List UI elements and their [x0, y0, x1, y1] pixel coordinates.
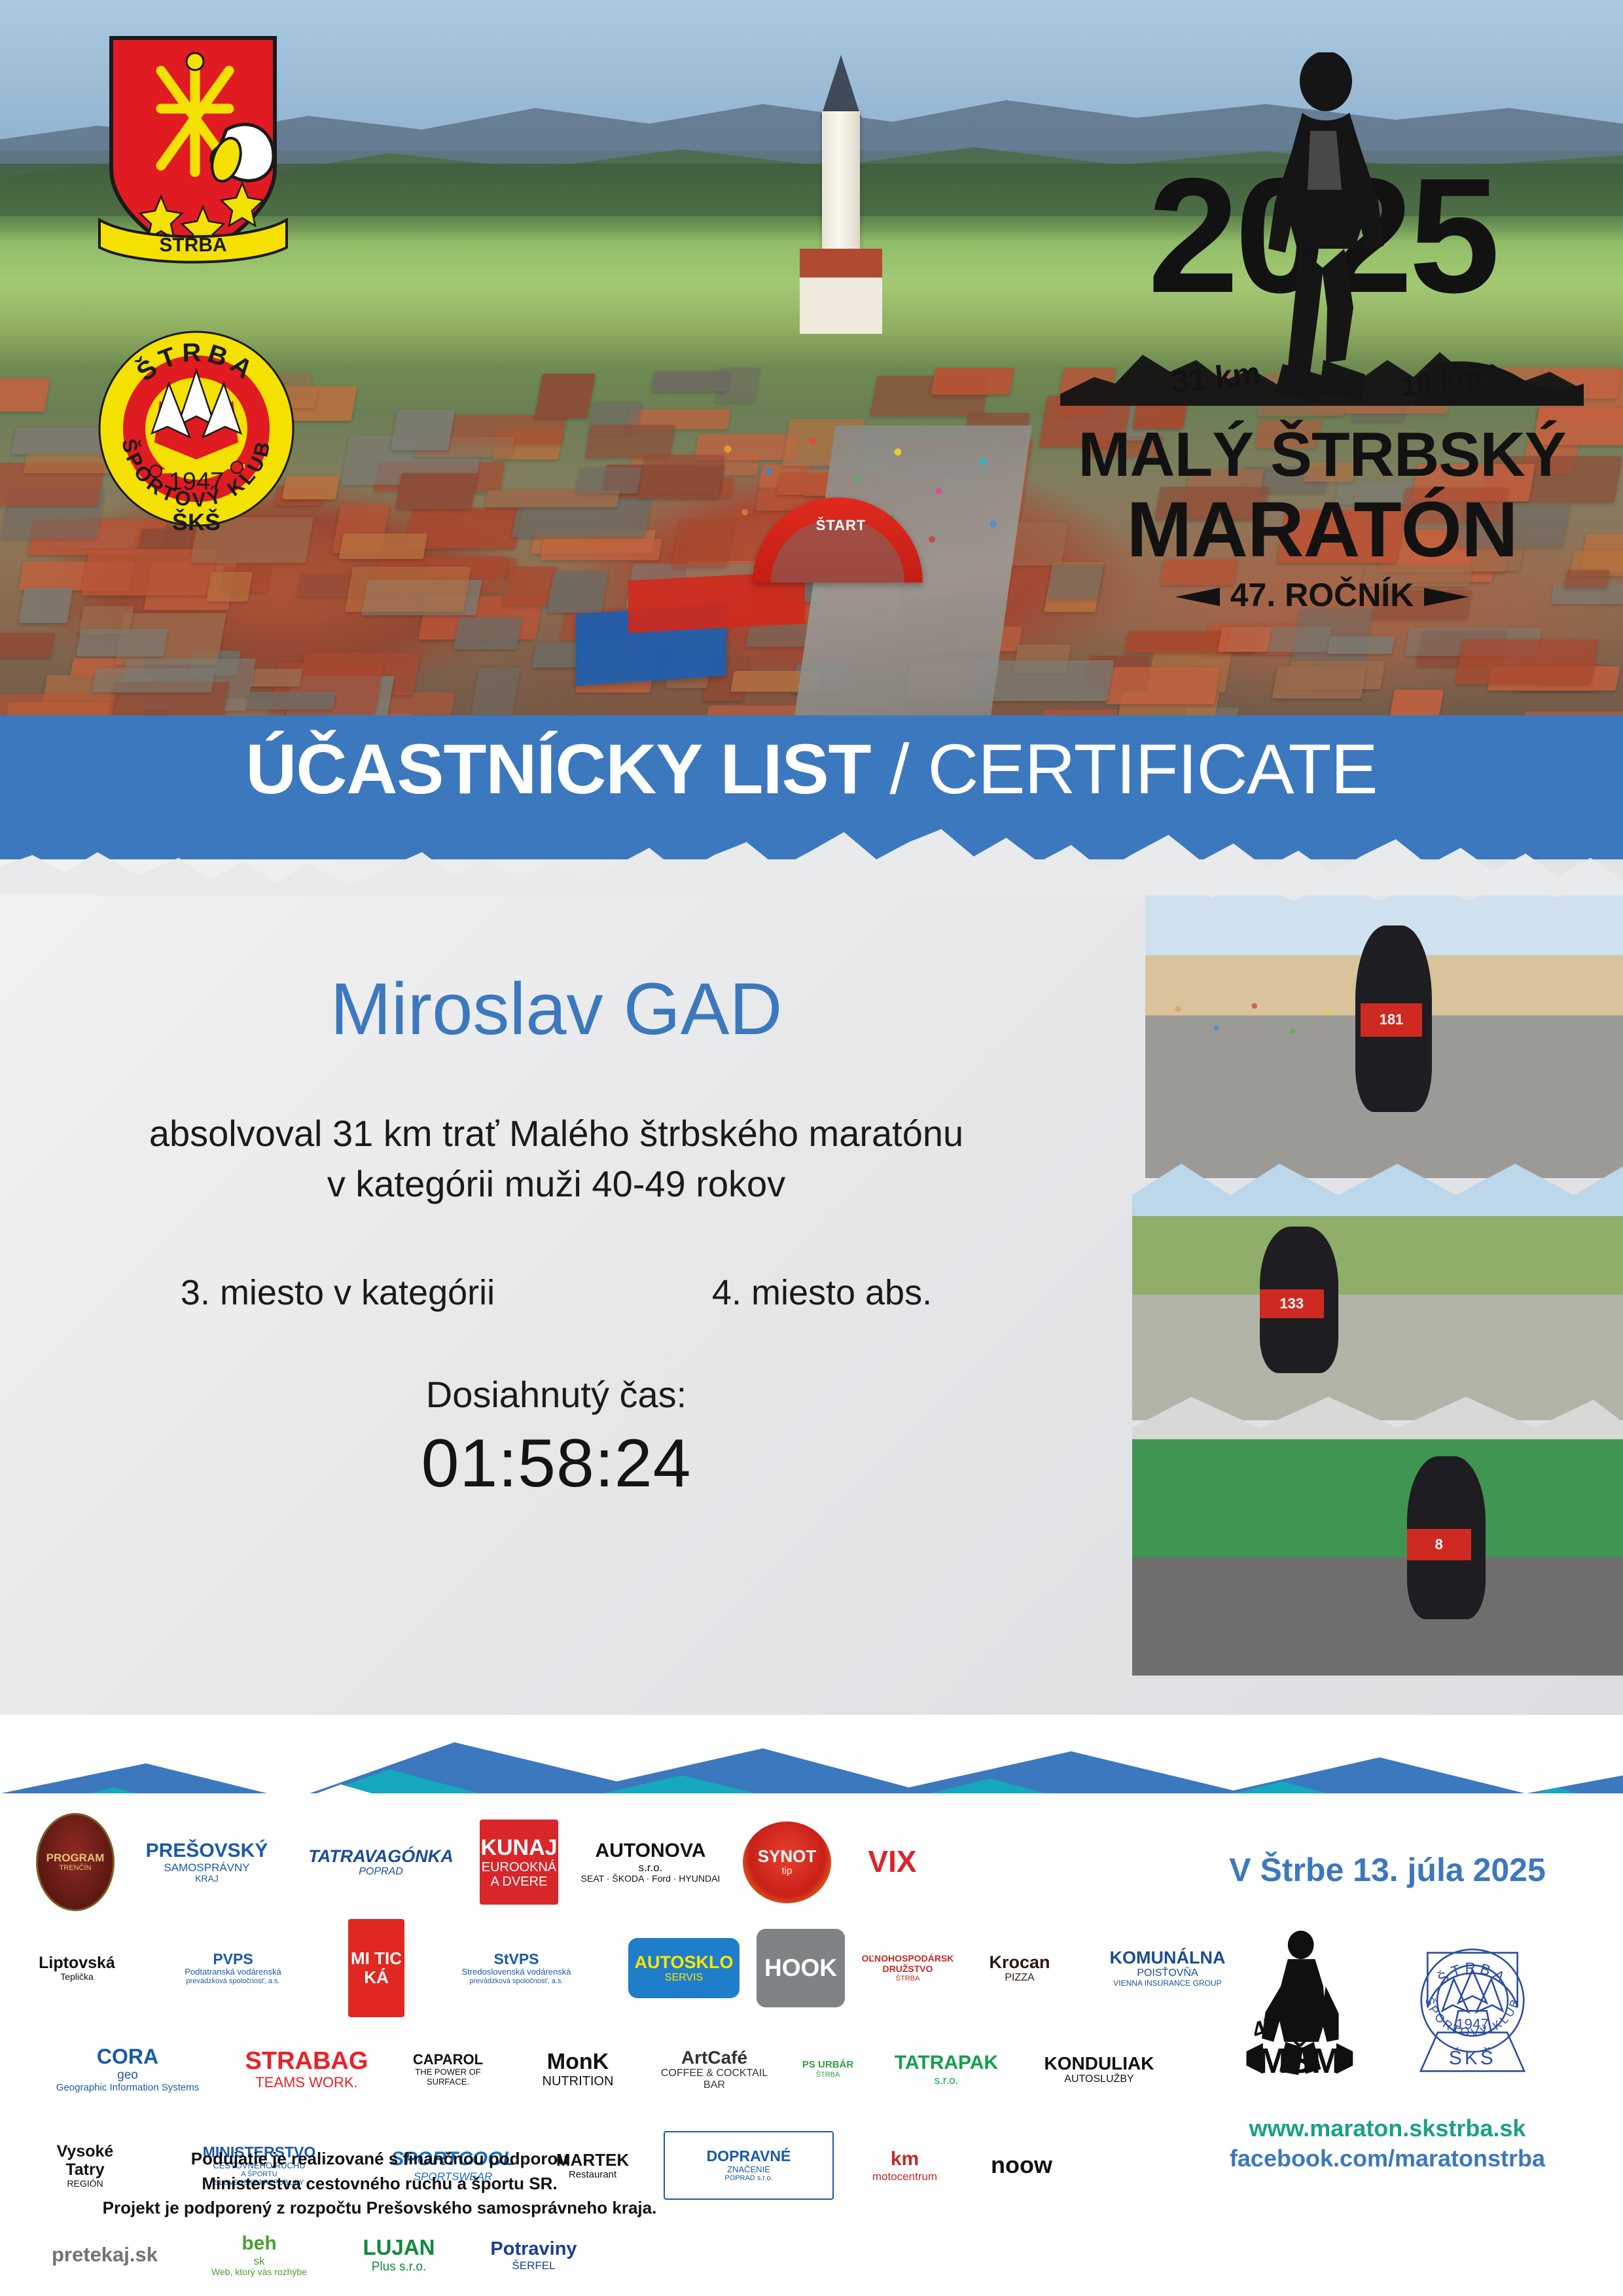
- photo-finish-line: 8: [1132, 1394, 1623, 1676]
- sponsor-name-line: PREŠOVSKÝ: [146, 1840, 268, 1862]
- sponsor-name: TATRAVAGÓNKAPOPRAD: [306, 1844, 455, 1880]
- sponsor-row: PROGRAMTRENČÍNPREŠOVSKÝSAMOSPRÁVNYKRAJTA…: [36, 1813, 1149, 1911]
- sponsor-name-line: Geographic Information Systems: [56, 2083, 199, 2094]
- sponsor-name-line: km: [872, 2148, 937, 2170]
- sponsor-name: MonKNUTRITION: [540, 2047, 616, 2091]
- race-name-line1: MALÝ ŠTRBSKÝ: [1047, 419, 1597, 491]
- event-date-line: V Štrbe 13. júla 2025: [1171, 1851, 1603, 1889]
- sponsor-logo: PS URBÁRŠTRBA: [792, 2025, 864, 2113]
- sponsor-logo: kmmotocentrum: [851, 2130, 959, 2202]
- sponsor-name-line: Liptovská: [39, 1954, 115, 1972]
- sponsor-name-line: motocentrum: [872, 2170, 937, 2183]
- sponsor-logo: StVPSStredoslovenská vodárenskáprevádzko…: [421, 1929, 611, 2007]
- category-placement: 3. miesto v kategórii: [181, 1272, 495, 1313]
- participant-name: Miroslav GAD: [0, 969, 1113, 1049]
- certificate-text-block: Miroslav GAD absolvoval 31 km trať Maléh…: [0, 969, 1113, 1503]
- disclaimer-line-2: Ministerstva cestovného ruchu a športu S…: [52, 2172, 707, 2197]
- sponsor-name-line: Stredoslovenská vodárenská: [462, 1967, 571, 1977]
- sponsor-name: STRABAGTEAMS WORK.: [243, 2045, 371, 2094]
- strba-coat-of-arms: ŠTRBA: [98, 31, 288, 267]
- sponsor-name-line: LUJAN: [363, 2236, 435, 2260]
- footer-right-column: V Štrbe 13. júla 2025 47. MŠM: [1171, 1820, 1603, 2238]
- sponsor-name-line: geo: [56, 2068, 199, 2082]
- sponsor-name-line: TRENČÍN: [46, 1864, 105, 1872]
- sks-stamp-logo: ŠTRBA ŠPORTOVÝ KLUB 1947 ŠKŠ: [1407, 1932, 1538, 2078]
- sponsor-name-line: ZNAČENIE: [707, 2165, 791, 2175]
- disclaimer-line-1: Podujatie je realizované s finančnou pod…: [52, 2147, 707, 2172]
- sponsor-name: PVPSPodtatranská vodárenskáprevádzková s…: [182, 1948, 283, 1988]
- mountain-silhouette-icon: [1060, 321, 1584, 406]
- race-name-line2: MARATÓN: [1047, 484, 1597, 575]
- sponsor-logo: KUNAJEUROOKNÁ A DVERE: [480, 1820, 558, 1905]
- sponsor-logo: MI TIC KÁ: [348, 1919, 404, 2017]
- sponsor-name: pretekaj.sk: [49, 2241, 160, 2269]
- sponsor-name: LUJANPlus s.r.o.: [360, 2233, 437, 2276]
- sponsor-name-line: s.r.o.: [581, 1861, 721, 1874]
- sponsor-logo: AUTOSKLOSERVIS: [628, 1938, 740, 1998]
- sks-stamp-abbrev: ŠKŠ: [1449, 2047, 1496, 2069]
- website-link[interactable]: www.maraton.skstrba.sk: [1171, 2113, 1603, 2144]
- sponsor-name-line: Potraviny: [490, 2238, 577, 2259]
- sponsor-name: CORAgeoGeographic Information Systems: [54, 2043, 202, 2096]
- club-emblem-year: 1947: [169, 468, 224, 495]
- sponsor-name-line: TEAMS WORK.: [245, 2075, 368, 2091]
- sponsor-name-line: CAPAROL: [397, 2052, 499, 2068]
- certificate-title-banner: ÚČASTNÍCKY LIST / CERTIFICATE: [0, 715, 1623, 859]
- sponsor-name-line: KUNAJ: [480, 1835, 557, 1860]
- sponsor-name: POĽNOHOSPODÁRSKE DRUŽSTVOŠTRBA: [862, 1951, 954, 1985]
- sponsor-logo: STRABAGTEAMS WORK.: [236, 2034, 377, 2106]
- sponsor-name: TATRAPAKs.r.o.: [892, 2049, 1001, 2089]
- sponsor-logo: KONDULIAKAUTOSLUŽBY: [1029, 2037, 1169, 2102]
- sponsor-name-line: Podtatranská vodárenská: [185, 1967, 281, 1977]
- sponsor-name-line: s.r.o.: [895, 2074, 998, 2087]
- sponsor-name-line: POĽNOHOSPODÁRSKE DRUŽSTVO: [862, 1954, 954, 1974]
- sponsor-name-line: STRABAG: [245, 2047, 368, 2075]
- sponsor-name-line: StVPS: [462, 1951, 571, 1968]
- sponsor-name-line: prevádzková spoločnosť, a.s.: [185, 1977, 281, 1985]
- sponsor-logo: TATRAPAKs.r.o.: [881, 2038, 1012, 2100]
- sponsor-name-line: Web, ktorý vás rozhýbe: [211, 2267, 307, 2278]
- finish-time-value: 01:58:24: [0, 1425, 1113, 1503]
- photo-finisher: 181: [1145, 877, 1623, 1178]
- sponsor-name: behskWeb, ktorý vás rozhýbe: [209, 2230, 310, 2280]
- sponsor-logo: AUTONOVAs.r.o.SEAT · ŠKODA · Ford · HYUN…: [575, 1820, 726, 1905]
- sponsor-name-line: POPRAD s.r.o.: [707, 2174, 791, 2182]
- sponsor-name-line: DOPRAVNÉ: [707, 2148, 791, 2165]
- placements-row: 3. miesto v kategórii 4. miesto abs.: [0, 1272, 1113, 1313]
- sponsor-name: PotravinyŠERFEL: [488, 2236, 579, 2275]
- sportovy-klub-strba-emblem: ŠTRBA ŠPORTOVÝ KLUB 1947 ŠKŠ: [98, 321, 294, 537]
- sponsor-name: SYNOTtip: [755, 1844, 819, 1880]
- sponsor-logo: LUJANPlus s.r.o.: [345, 2217, 453, 2293]
- sponsor-name: CAPAROLTHE POWER OF SURFACE.: [394, 2049, 502, 2090]
- sponsor-name: ArtCaféCOFFEE & COCKTAIL BAR: [654, 2045, 775, 2094]
- sponsor-name-line: prevádzková spoločnosť, a.s.: [462, 1977, 571, 1985]
- sponsor-name: PROGRAMTRENČÍN: [44, 1849, 107, 1874]
- sponsor-logo: PotravinyŠERFEL: [470, 2219, 597, 2291]
- sponsor-name-line: EUROOKNÁ A DVERE: [480, 1860, 557, 1890]
- sponsor-name-line: SAMOSPRÁVNY: [146, 1861, 268, 1874]
- page-title: ÚČASTNÍCKY LIST / CERTIFICATE: [0, 734, 1623, 804]
- photo-runners-trail: 133: [1132, 1158, 1623, 1420]
- contact-links: www.maraton.skstrba.sk facebook.com/mara…: [1171, 2113, 1603, 2174]
- sponsor-name: KUNAJEUROOKNÁ A DVERE: [480, 1833, 558, 1892]
- title-english: CERTIFICATE: [928, 729, 1378, 808]
- sks-stamp-year: 1947: [1456, 2016, 1489, 2032]
- facebook-link[interactable]: facebook.com/maratonstrba: [1171, 2144, 1603, 2174]
- sponsor-logo: PVPSPodtatranská vodárenskáprevádzková s…: [135, 1929, 331, 2007]
- sponsor-name: PREŠOVSKÝSAMOSPRÁVNYKRAJ: [143, 1837, 271, 1887]
- sponsor-logo: PREŠOVSKÝSAMOSPRÁVNYKRAJ: [132, 1823, 282, 1901]
- sponsor-name-line: beh: [211, 2233, 307, 2255]
- finish-time-label: Dosiahnutý čas:: [0, 1373, 1113, 1416]
- sponsor-name: MI TIC KÁ: [348, 1946, 404, 1990]
- sponsor-name-line: PROGRAM: [46, 1852, 105, 1864]
- sponsor-name: KrocanPIZZA: [986, 1950, 1052, 1986]
- title-separator: /: [870, 729, 927, 808]
- sponsor-logo: PROGRAMTRENČÍN: [36, 1813, 115, 1911]
- sponsor-name-line: POPRAD: [308, 1866, 453, 1878]
- start-arch-label: ŠTART: [795, 517, 887, 534]
- sponsor-name: StVPSStredoslovenská vodárenskáprevádzko…: [459, 1948, 574, 1988]
- sponsor-row: pretekaj.skbehskWeb, ktorý vás rozhýbeLU…: [36, 2217, 1149, 2293]
- sponsor-logo: POĽNOHOSPODÁRSKE DRUŽSTVOŠTRBA: [862, 1926, 954, 2011]
- sponsor-name-line: PIZZA: [989, 1972, 1050, 1984]
- description-line-2: v kategórii muži 40-49 rokov: [0, 1158, 1113, 1209]
- race-logo: 2025 31 km 10 km MALÝ ŠTRBSKÝ MARATÓN: [1047, 33, 1597, 602]
- sponsor-logo: ArtCaféCOFFEE & COCKTAIL BAR: [654, 2030, 775, 2109]
- sponsor-name-line: VIX: [868, 1845, 916, 1879]
- sponsors-footer: PROGRAMTRENČÍNPREŠOVSKÝSAMOSPRÁVNYKRAJTA…: [0, 1793, 1623, 2296]
- coat-of-arms-ribbon-label: ŠTRBA: [159, 234, 226, 256]
- sponsor-logo: MonKNUTRITION: [519, 2034, 637, 2106]
- sponsor-name-line: CORA: [56, 2045, 199, 2069]
- msm-badge-logo: 47. MŠM: [1237, 1929, 1361, 2081]
- photo-collage: 181 133 8: [1113, 851, 1623, 1715]
- sponsor-name-line: AUTOSLUŽBY: [1044, 2073, 1154, 2085]
- race-edition-label: 47. ROČNÍK: [1230, 577, 1414, 613]
- bib-number: 181: [1361, 1003, 1423, 1037]
- sponsor-logo: pretekaj.sk: [36, 2223, 173, 2288]
- sponsor-name: HOOK: [762, 1952, 840, 1984]
- sponsor-logo: LiptovskáTeplička: [36, 1922, 118, 2014]
- sponsor-logo: SYNOTtip: [743, 1821, 831, 1903]
- sponsor-name-line: AUTONOVA: [581, 1840, 721, 1862]
- sponsor-name-line: sk: [211, 2255, 307, 2267]
- sponsor-name-line: Krocan: [989, 1952, 1050, 1972]
- sponsor-logo: HOOK: [757, 1929, 845, 2007]
- disclaimer-line-3: Projekt je podporený z rozpočtu Prešovsk…: [52, 2196, 707, 2221]
- sponsor-name-line: SYNOT: [758, 1847, 817, 1866]
- sponsor-name-line: MI TIC KÁ: [351, 1949, 402, 1987]
- sponsor-name-line: NUTRITION: [543, 2074, 614, 2089]
- sponsor-row: LiptovskáTepličkaPVPSPodtatranská vodáre…: [36, 1919, 1149, 2017]
- sponsor-name-line: KONDULIAK: [1044, 2053, 1154, 2073]
- sponsor-name: KONDULIAKAUTOSLUŽBY: [1042, 2051, 1157, 2088]
- sponsor-name-line: TATRAVAGÓNKA: [308, 1846, 453, 1866]
- sponsor-name: VIX: [865, 1842, 919, 1882]
- sponsor-name-line: PVPS: [185, 1951, 281, 1968]
- sponsor-name-line: ŠTRBA: [802, 2071, 853, 2079]
- sponsor-name: LiptovskáTeplička: [36, 1951, 118, 1985]
- sponsor-name-line: ŠTRBA: [862, 1975, 954, 1982]
- sponsor-logo: CORAgeoGeographic Information Systems: [36, 2032, 219, 2107]
- sponsor-name-line: TATRAPAK: [895, 2052, 998, 2074]
- sponsor-name-line: noow: [991, 2152, 1052, 2178]
- sponsor-name-line: Teplička: [39, 1972, 115, 1982]
- footer-emblems: 47. MŠM: [1171, 1929, 1603, 2081]
- sks-stamp-top-label: ŠTRBA: [1435, 1960, 1510, 1987]
- absolute-placement: 4. miesto abs.: [712, 1272, 932, 1313]
- sponsor-logo: KrocanPIZZA: [971, 1926, 1069, 2011]
- bib-number: 133: [1260, 1289, 1324, 1318]
- club-emblem-abbrev: ŠKŠ: [172, 508, 221, 535]
- sponsor-name-line: SERVIS: [634, 1972, 733, 1984]
- sponsor-logo: VIX: [848, 1821, 936, 1903]
- sponsor-name-line: COFFEE & COCKTAIL BAR: [656, 2068, 772, 2091]
- sponsor-name: noow: [988, 2149, 1055, 2181]
- sponsor-name-line: ArtCafé: [656, 2047, 772, 2068]
- title-slovak: ÚČASTNÍCKY LIST: [245, 729, 870, 808]
- triangle-right-icon: [1424, 579, 1470, 617]
- sponsor-name: AUTONOVAs.r.o.SEAT · ŠKODA · Ford · HYUN…: [579, 1837, 723, 1887]
- certificate-description: absolvoval 31 km trať Malého štrbského m…: [0, 1108, 1113, 1210]
- church-building: [805, 52, 877, 327]
- sponsor-name-line: tip: [758, 1866, 817, 1877]
- sponsor-name-line: SEAT · ŠKODA · Ford · HYUNDAI: [581, 1874, 721, 1884]
- triangle-left-icon: [1174, 579, 1220, 617]
- sponsor-name-line: AUTOSKLO: [634, 1952, 733, 1972]
- sponsor-name-line: pretekaj.sk: [52, 2244, 158, 2267]
- race-edition-row: 47. ROČNÍK: [1047, 576, 1597, 617]
- sponsor-name: AUTOSKLOSERVIS: [632, 1950, 736, 1986]
- description-line-1: absolvoval 31 km trať Malého štrbského m…: [0, 1108, 1113, 1158]
- sponsor-logo: CAPAROLTHE POWER OF SURFACE.: [394, 2030, 502, 2109]
- sponsor-name-line: KRAJ: [146, 1874, 268, 1884]
- bib-number: 8: [1407, 1529, 1471, 1560]
- sponsor-row: CORAgeoGeographic Information SystemsSTR…: [36, 2025, 1149, 2113]
- sponsor-name-line: Plus s.r.o.: [363, 2260, 435, 2274]
- sponsor-name: PS URBÁRŠTRBA: [800, 2057, 856, 2081]
- sponsor-name-line: ŠERFEL: [490, 2259, 577, 2272]
- sponsor-name: DOPRAVNÉZNAČENIEPOPRAD s.r.o.: [704, 2145, 794, 2185]
- funding-disclaimer: Podujatie je realizované s finančnou pod…: [52, 2147, 707, 2221]
- sponsor-name-line: THE POWER OF SURFACE.: [397, 2068, 499, 2087]
- sponsor-logo: behskWeb, ktorý vás rozhýbe: [190, 2221, 328, 2289]
- sponsor-name-line: MonK: [543, 2049, 614, 2074]
- msm-abbrev-label: MŠM: [1258, 2041, 1342, 2077]
- sponsor-name-line: PS URBÁR: [802, 2060, 853, 2071]
- sponsor-name: kmmotocentrum: [870, 2145, 940, 2185]
- sponsor-logo: TATRAVAGÓNKAPOPRAD: [299, 1823, 463, 1901]
- sponsor-logo: noow: [976, 2133, 1067, 2198]
- sponsor-name-line: HOOK: [764, 1954, 837, 1981]
